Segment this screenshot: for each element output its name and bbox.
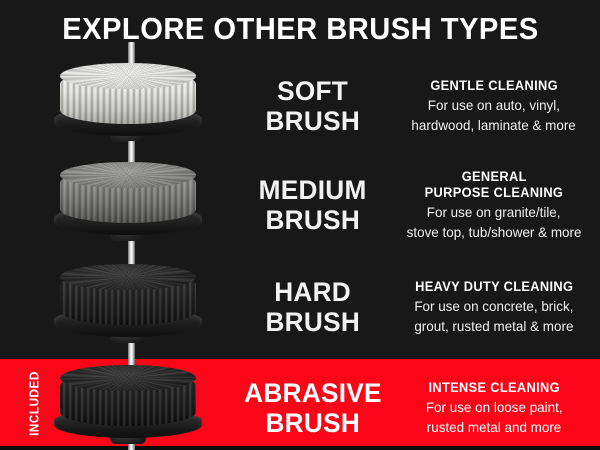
brush-name-line-1: MEDIUM (259, 175, 367, 205)
brush-description-soft: GENTLE CLEANING For use on auto, vinyl, … (398, 56, 594, 156)
brush-name-soft: SOFT BRUSH (228, 56, 398, 156)
brush-name-line-2: BRUSH (266, 408, 361, 438)
brush-use-line-1: For use on concrete, brick, (414, 298, 573, 315)
brush-bristle-top (60, 63, 196, 89)
brush-use-heading: INTENSE CLEANING (428, 380, 559, 396)
brush-illustration (48, 364, 208, 450)
brush-description-medium: GENERAL PURPOSE CLEANING For use on gran… (398, 155, 594, 255)
brush-bristle-top (60, 365, 196, 391)
brush-illustration (48, 263, 208, 351)
brush-row-soft: SOFT BRUSH GENTLE CLEANING For use on au… (0, 56, 600, 156)
brush-name-medium: MEDIUM BRUSH (228, 155, 398, 255)
brush-use-line-2: hardwood, laminate & more (412, 117, 576, 134)
brush-use-line-1: For use on auto, vinyl, (428, 97, 560, 114)
brush-image-hard (40, 257, 230, 357)
brush-use-line-2: stove top, tub/shower & more (407, 224, 582, 241)
brush-illustration (48, 161, 208, 249)
brush-use-heading: HEAVY DUTY CLEANING (415, 279, 573, 295)
brush-use-line-1: For use on granite/tile, (427, 204, 561, 221)
brush-image-soft (40, 56, 230, 156)
brush-name-line-1: SOFT (277, 76, 348, 106)
brush-row-medium: MEDIUM BRUSH GENERAL PURPOSE CLEANING Fo… (0, 155, 600, 255)
brush-use-heading: GENTLE CLEANING (430, 78, 558, 94)
brush-description-abrasive: INTENSE CLEANING For use on loose paint,… (398, 358, 594, 450)
brush-name-line-2: BRUSH (266, 307, 361, 337)
brush-name-line-2: BRUSH (266, 106, 361, 136)
brush-illustration (48, 62, 208, 150)
brush-description-hard: HEAVY DUTY CLEANING For use on concrete,… (398, 257, 594, 357)
brush-use-line-2: grout, rusted metal & more (414, 318, 573, 335)
brush-bristle-top (60, 162, 196, 188)
brush-use-heading-2: PURPOSE CLEANING (425, 185, 564, 201)
brush-row-abrasive: ABRASIVE BRUSH INTENSE CLEANING For use … (0, 358, 600, 448)
brush-image-medium (40, 155, 230, 255)
brush-name-line-1: ABRASIVE (244, 378, 382, 408)
brush-bristle-top (60, 264, 196, 290)
brush-use-line-2: rusted metal and more (427, 419, 561, 436)
brush-use-heading: GENERAL (461, 169, 526, 185)
brush-name-hard: HARD BRUSH (228, 257, 398, 357)
title-bar: EXPLORE OTHER BRUSH TYPES (0, 0, 600, 56)
brush-name-line-1: HARD (275, 277, 352, 307)
brush-types-infographic: EXPLORE OTHER BRUSH TYPES INCLUDED (0, 0, 600, 450)
page-title: EXPLORE OTHER BRUSH TYPES (62, 13, 538, 44)
brush-name-line-2: BRUSH (266, 205, 361, 235)
brush-row-hard: HARD BRUSH HEAVY DUTY CLEANING For use o… (0, 257, 600, 357)
brush-name-abrasive: ABRASIVE BRUSH (228, 358, 398, 450)
brush-use-line-1: For use on loose paint, (426, 399, 563, 416)
brush-image-abrasive (40, 358, 230, 450)
